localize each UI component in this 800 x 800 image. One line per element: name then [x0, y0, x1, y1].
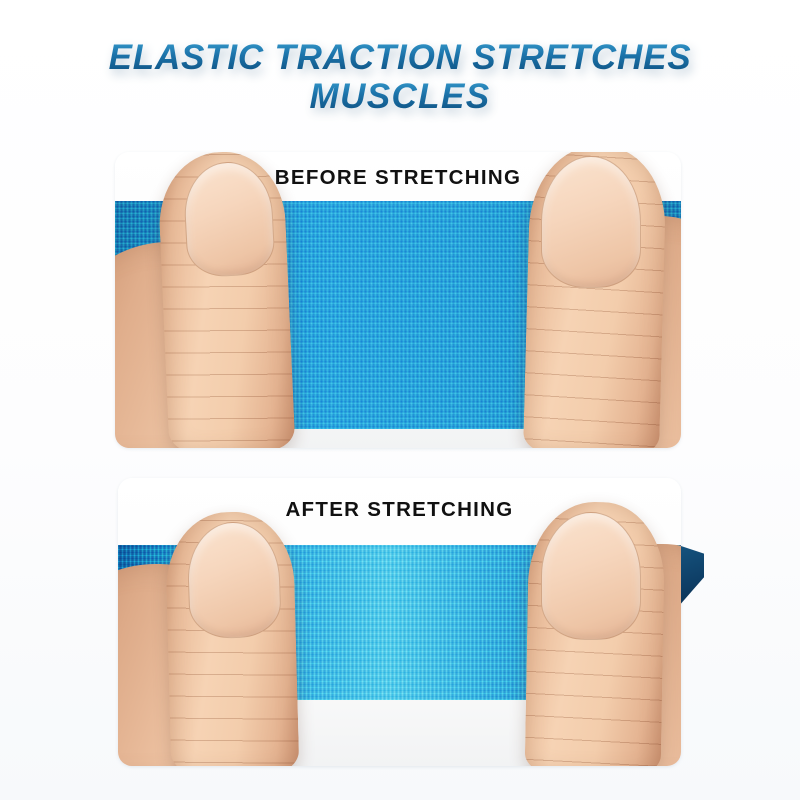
headline-line-2: MUSCLES	[0, 77, 800, 116]
panel-after-stretching: AFTER STRETCHING	[118, 478, 681, 766]
panel-before-stretching: BEFORE STRETCHING	[115, 152, 681, 448]
headline-line-1: ELASTIC TRACTION STRETCHES	[0, 38, 800, 77]
panel-before-caption: BEFORE STRETCHING	[115, 166, 681, 190]
panel-after-caption: AFTER STRETCHING	[118, 498, 681, 522]
right-hand-after	[487, 484, 681, 766]
right-thumbnail-after	[541, 512, 641, 640]
left-hand-after	[118, 484, 340, 766]
left-hand-before	[115, 152, 335, 448]
tape-tail-overhang	[678, 545, 704, 607]
right-hand-before	[489, 152, 681, 448]
headline: ELASTIC TRACTION STRETCHES MUSCLES	[0, 38, 800, 116]
product-infographic-poster: ELASTIC TRACTION STRETCHES MUSCLES BEFOR…	[0, 0, 800, 800]
